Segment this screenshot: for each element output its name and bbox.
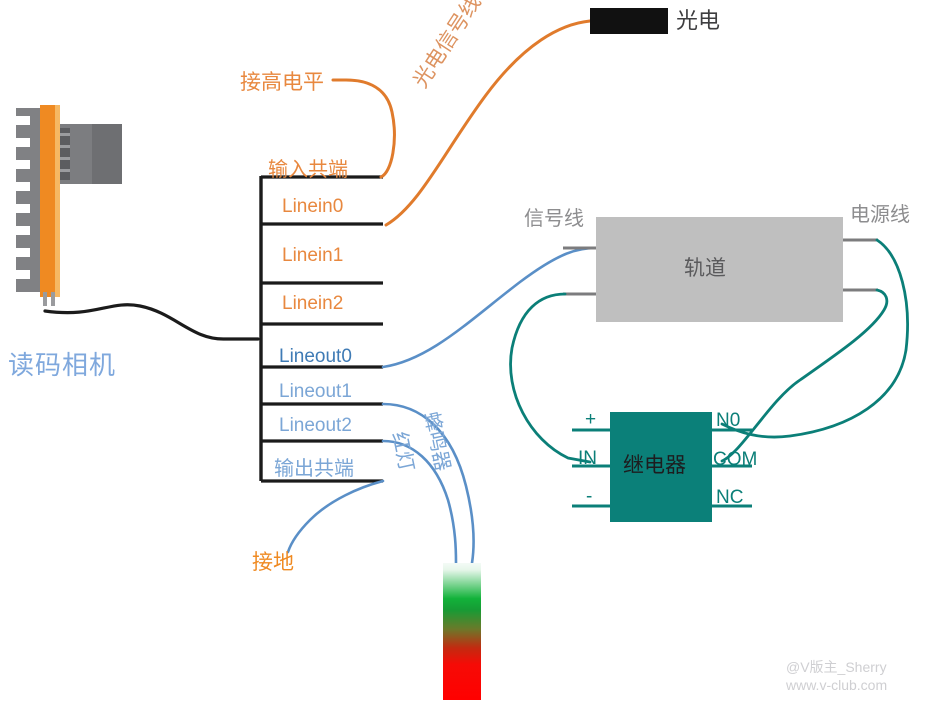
camera-pin-gap-icon [60, 157, 70, 160]
relay-terminal-nc: NC [716, 487, 743, 509]
high-level-label: 接高电平 [240, 72, 324, 93]
camera-caption: 读码相机 [8, 352, 116, 378]
camera-connector-pin-icon [43, 292, 47, 306]
photoelectric-sensor-icon [590, 8, 668, 34]
track-to-relay-in-wire [511, 294, 590, 462]
watermark-site: www.v-club.com [786, 678, 887, 692]
relay-label: 继电器 [623, 455, 686, 476]
camera-connector-pin-icon [51, 292, 55, 306]
terminal-label-linein0: Linein0 [282, 196, 343, 218]
camera-cable [45, 305, 258, 339]
relay-terminal-no: N0 [716, 410, 740, 432]
camera-pin-gap-icon [60, 169, 70, 172]
terminal-label-linein2: Linein2 [282, 293, 343, 315]
terminal-label-lineout0: Lineout0 [279, 346, 352, 368]
tower-light-icon [443, 563, 481, 700]
power-wire-label: 电源线 [850, 205, 910, 225]
output-common-ground-wire [288, 481, 383, 552]
signal-wire-label: 信号线 [524, 209, 584, 229]
relay-terminal-plus: + [585, 409, 596, 431]
ground-label: 接地 [252, 552, 294, 573]
watermark-handle: @V版主_Sherry [786, 660, 887, 674]
camera-pin-gap-icon [60, 133, 70, 136]
track-label: 轨道 [684, 258, 726, 279]
terminal-label-input-common: 输入共端 [268, 153, 348, 182]
relay-terminal-com: COM [713, 449, 757, 471]
terminal-label-lineout2: Lineout2 [279, 415, 352, 437]
relay-terminal-in: IN [578, 448, 597, 470]
terminal-label-lineout1: Lineout1 [279, 381, 352, 403]
terminal-label-linein1: Linein1 [282, 245, 343, 267]
lineout0-to-track-wire [383, 248, 596, 367]
photoelectric-sensor-label: 光电 [676, 10, 720, 32]
diagram-canvas: 读码相机 光电 光电信号线 接高电平 接地 蜂鸣器 红灯 输入共端 Linein… [0, 0, 936, 706]
photo-signal-wire [386, 21, 590, 225]
relay-terminal-minus: - [586, 486, 592, 508]
camera-pin-gap-icon [60, 145, 70, 148]
camera-lens-shadow-icon [92, 124, 122, 184]
terminal-label-output-common: 输出共端 [274, 452, 354, 481]
